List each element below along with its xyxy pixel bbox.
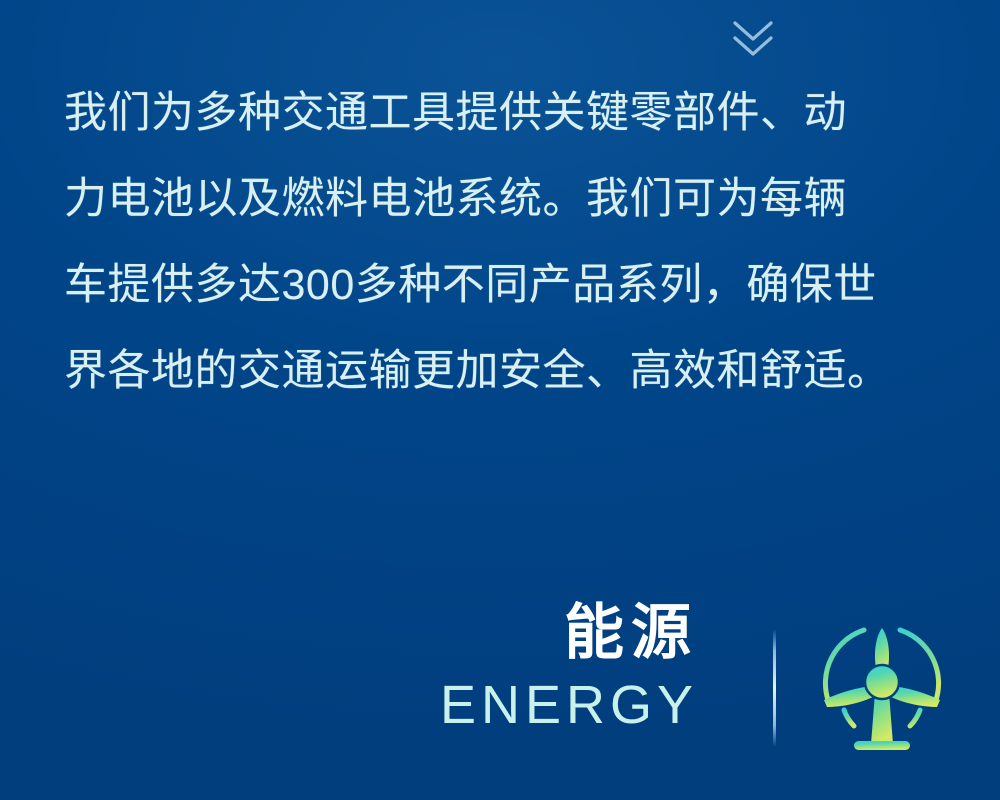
brand-name-cn: 能源 (280, 596, 700, 670)
body-paragraph: 我们为多种交通工具提供关键零部件、动 力电池以及燃料电池系统。我们可为每辆 车提… (64, 70, 944, 414)
body-line: 力电池以及燃料电池系统。我们可为每辆 (64, 156, 944, 242)
brand-block: 能源 ENERGY (0, 596, 1000, 786)
body-line: 车提供多达300多种不同产品系列，确保世 (64, 242, 944, 328)
double-chevron-down-icon[interactable] (724, 14, 782, 62)
body-line: 我们为多种交通工具提供关键零部件、动 (64, 70, 944, 156)
body-line: 界各地的交通运输更加安全、高效和舒适。 (64, 328, 944, 414)
wind-turbine-icon (806, 608, 958, 768)
energy-slide: 我们为多种交通工具提供关键零部件、动 力电池以及燃料电池系统。我们可为每辆 车提… (0, 0, 1000, 800)
brand-text: 能源 ENERGY (280, 596, 700, 740)
brand-name-en: ENERGY (280, 670, 700, 740)
vertical-divider (773, 630, 776, 746)
